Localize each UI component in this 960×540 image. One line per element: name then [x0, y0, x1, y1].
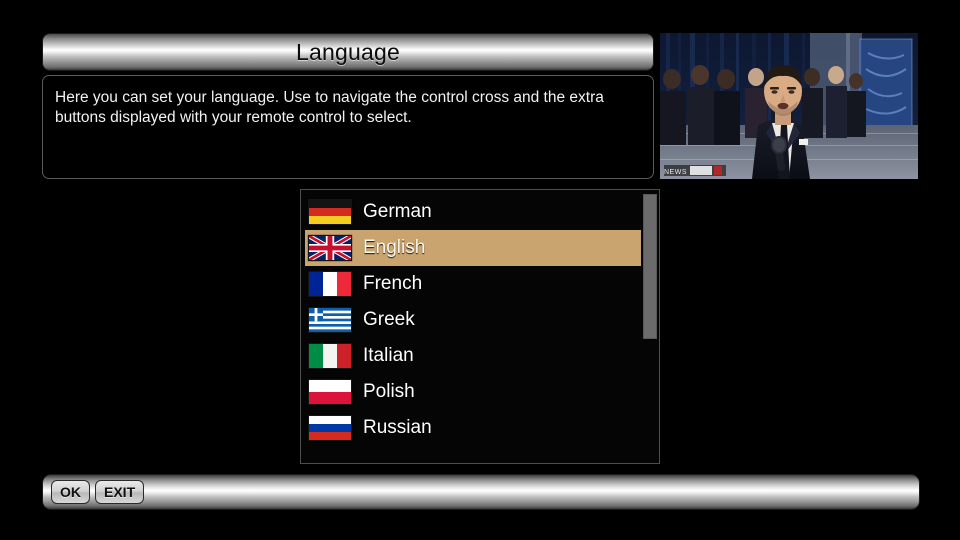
footer-bar: OK EXIT — [42, 474, 920, 510]
flag-fr-icon — [308, 271, 352, 297]
ok-button[interactable]: OK — [51, 480, 90, 504]
exit-button[interactable]: EXIT — [95, 480, 144, 504]
scrollbar-thumb[interactable] — [643, 194, 657, 339]
list-item[interactable]: German — [305, 194, 641, 230]
flag-it-icon — [308, 343, 352, 369]
tv-video-preview[interactable]: NEWS — [660, 33, 918, 179]
list-item-label: Italian — [363, 345, 414, 367]
list-item-label: Polish — [363, 381, 415, 403]
language-list: German English — [301, 190, 641, 463]
help-text: Here you can set your language. Use to n… — [55, 88, 641, 128]
list-item[interactable]: Greek — [305, 302, 641, 338]
flag-ru-icon — [308, 415, 352, 441]
language-list-panel: German English — [300, 189, 660, 464]
page-title: Language — [296, 39, 400, 66]
list-item-label: French — [363, 273, 422, 295]
tv-osd-screen: Language Here you can set your language.… — [0, 0, 960, 540]
video-frame-icon — [660, 33, 918, 179]
list-item[interactable]: Italian — [305, 338, 641, 374]
list-item-label: Greek — [363, 309, 415, 331]
title-bar: Language — [42, 33, 654, 71]
flag-de-icon — [308, 199, 352, 225]
help-text-box: Here you can set your language. Use to n… — [42, 75, 654, 179]
ok-button-label: OK — [60, 484, 81, 500]
list-item[interactable]: French — [305, 266, 641, 302]
flag-gb-icon — [308, 235, 352, 261]
list-scrollbar[interactable] — [643, 192, 657, 461]
list-item[interactable]: English — [305, 230, 641, 266]
list-item-label: English — [363, 237, 425, 259]
list-item-label: Russian — [363, 417, 432, 439]
flag-pl-icon — [308, 379, 352, 405]
list-item[interactable]: Polish — [305, 374, 641, 410]
list-item-label: German — [363, 201, 432, 223]
list-item[interactable]: Russian — [305, 410, 641, 446]
channel-badge: NEWS — [664, 169, 687, 176]
exit-button-label: EXIT — [104, 484, 135, 500]
flag-gr-icon — [308, 307, 352, 333]
